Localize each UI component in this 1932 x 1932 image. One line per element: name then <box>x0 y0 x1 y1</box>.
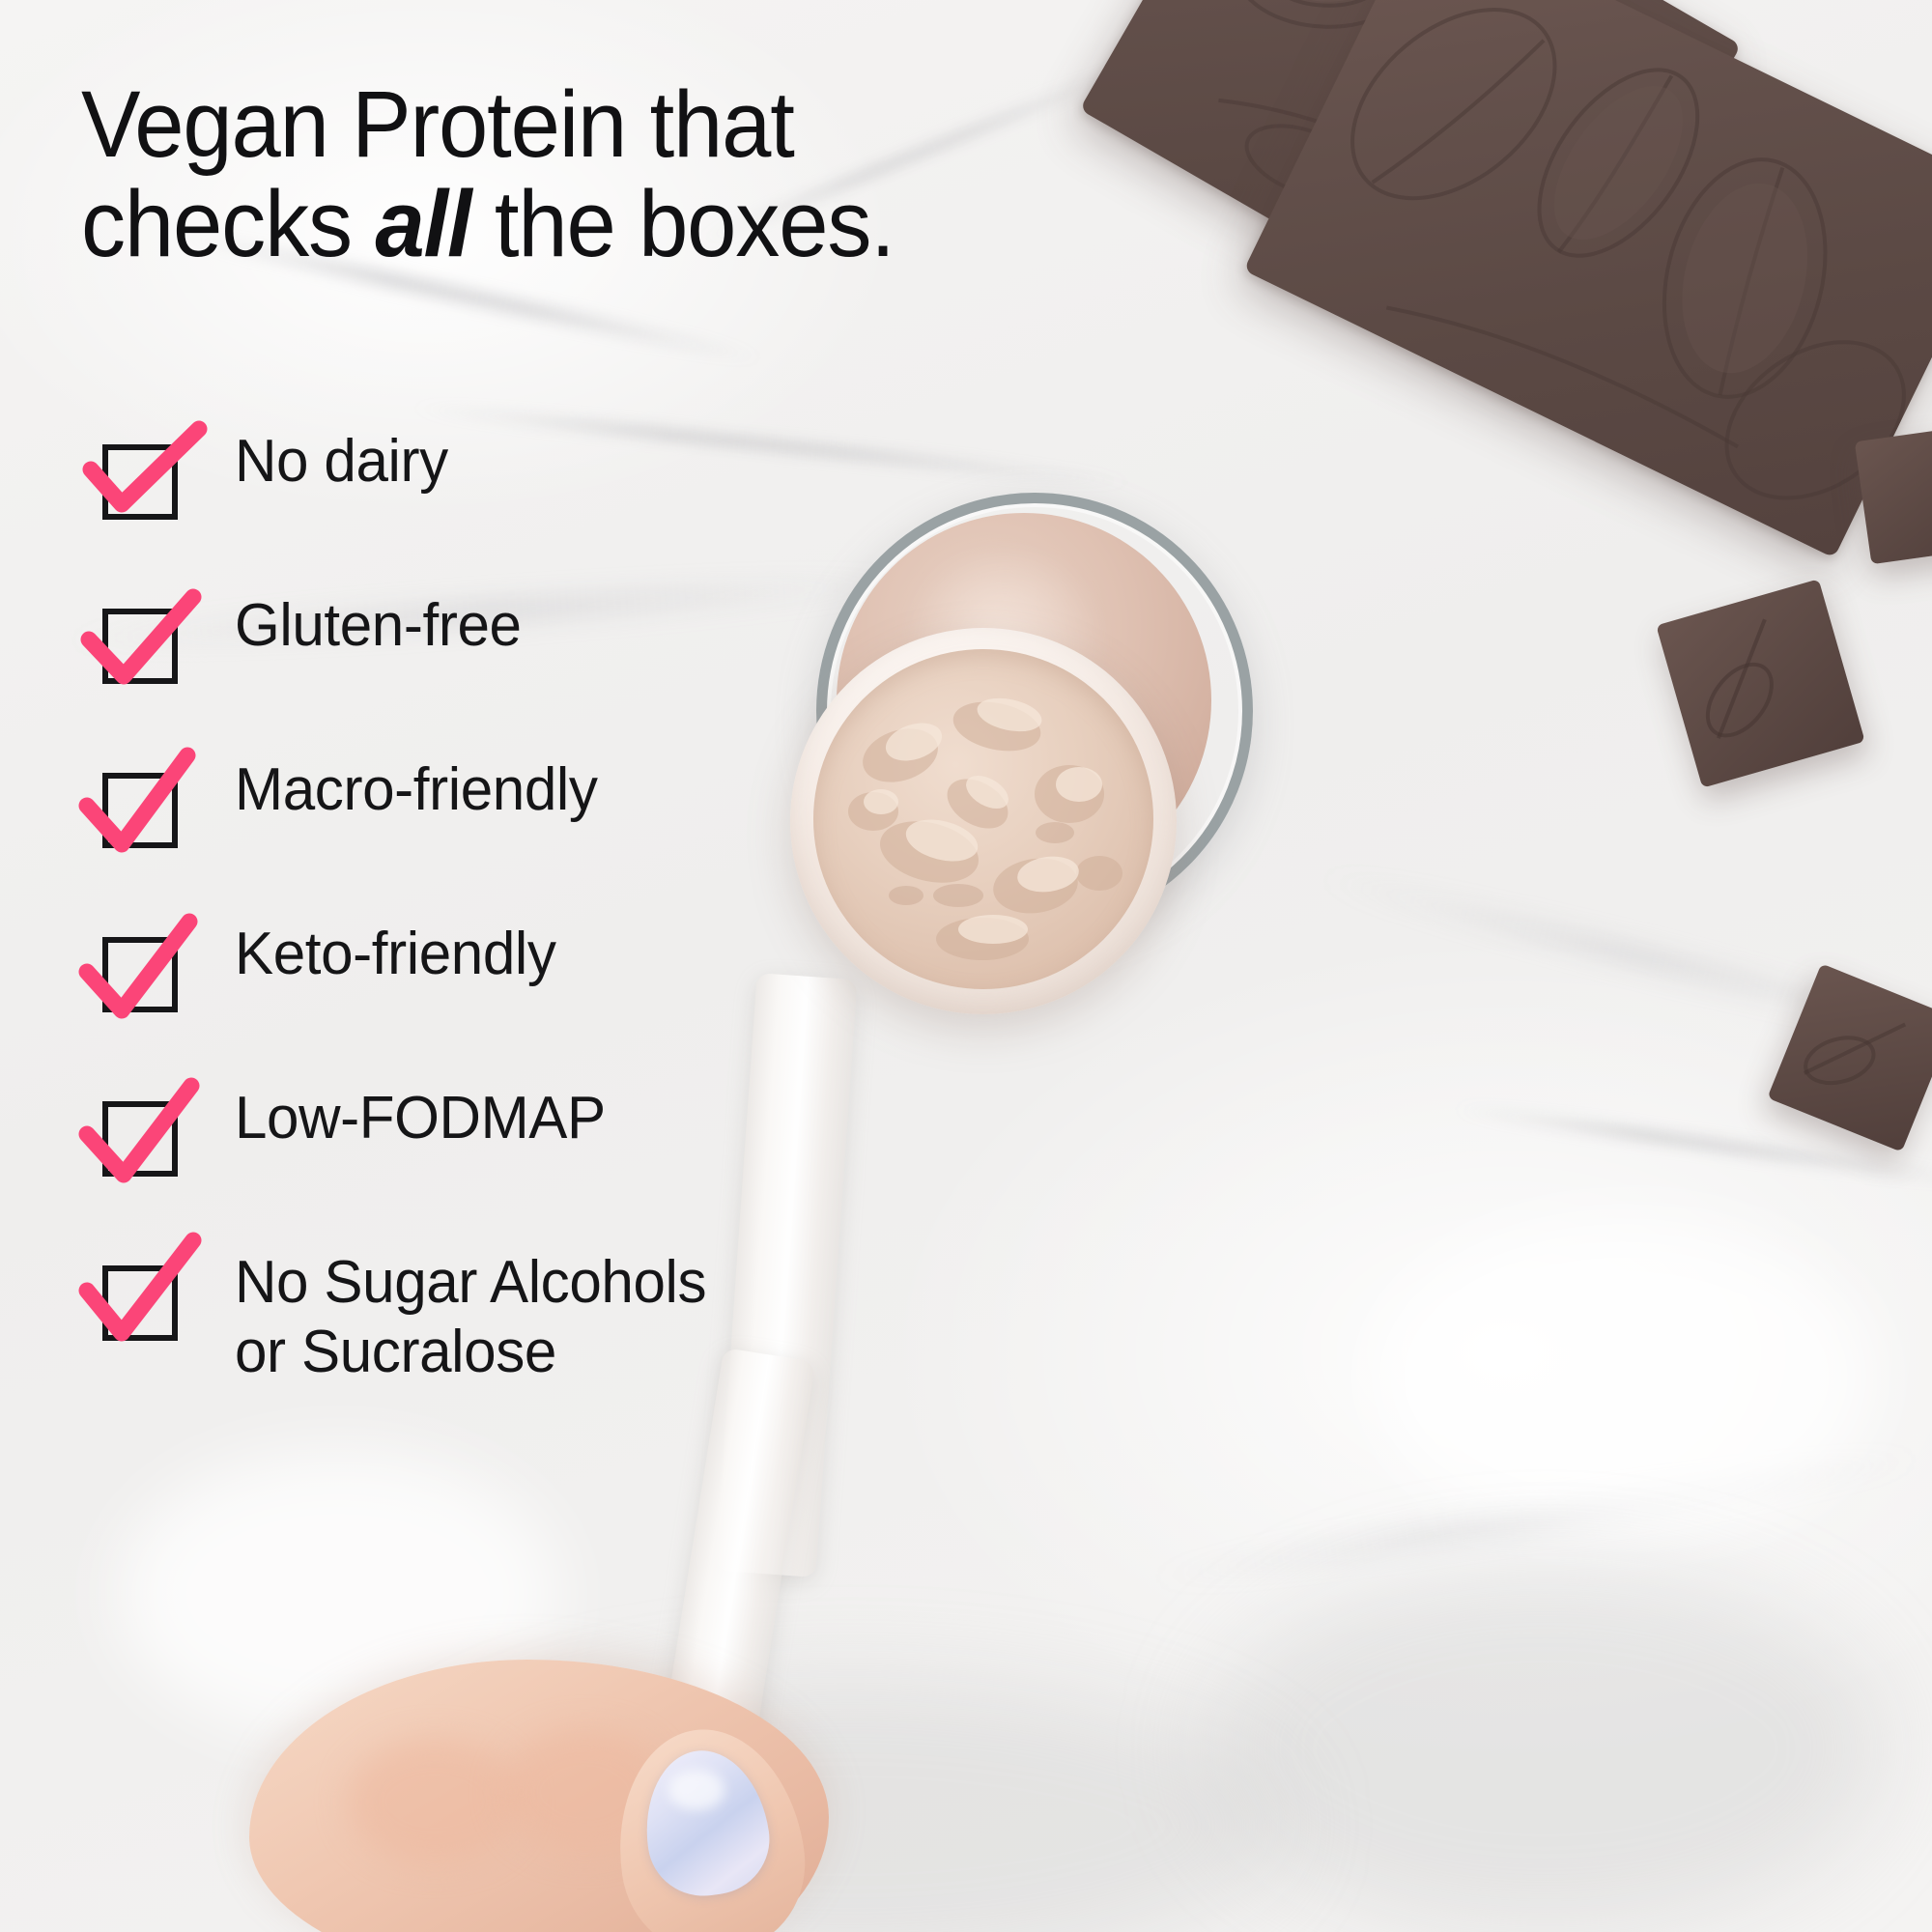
list-item-label-text: Low-FODMAP <box>235 1085 606 1151</box>
list-item[interactable]: Gluten-free <box>85 580 1051 696</box>
marble-shadow <box>1207 1565 1884 1932</box>
list-item[interactable]: Macro-friendly <box>85 744 1051 860</box>
checkmark-icon <box>85 916 235 1024</box>
checkmark-icon <box>85 587 235 696</box>
knuckle-highlight <box>348 1739 522 1864</box>
checkbox-checked-icon[interactable] <box>85 916 235 1024</box>
checkbox-checked-icon[interactable] <box>85 423 235 531</box>
checkbox-checked-icon[interactable] <box>85 587 235 696</box>
headline-line-2-before: checks <box>81 171 375 276</box>
list-item-label: No dairy <box>235 415 448 497</box>
headline-emphasis: all <box>375 171 470 276</box>
list-item-label: Macro-friendly <box>235 744 598 825</box>
list-item-label-text: Keto-friendly <box>235 921 556 987</box>
list-item-label-text: No dairy <box>235 428 448 495</box>
list-item[interactable]: No Sugar Alcohols or Sucralose <box>85 1236 1051 1387</box>
nail-highlight <box>668 1770 724 1810</box>
list-item-label-text: Gluten-free <box>235 592 522 659</box>
benefits-checklist: No dairy Gluten-free Macro-fri <box>85 415 1051 1387</box>
checkmark-icon <box>85 1080 235 1188</box>
checkbox-checked-icon[interactable] <box>85 1244 235 1352</box>
list-item-label: Keto-friendly <box>235 908 556 989</box>
list-item[interactable]: Low-FODMAP <box>85 1072 1051 1188</box>
list-item[interactable]: Keto-friendly <box>85 908 1051 1024</box>
list-item-label-text: No Sugar Alcohols <box>235 1249 706 1316</box>
checkmark-icon <box>85 752 235 860</box>
list-item-label: No Sugar Alcohols or Sucralose <box>235 1236 706 1387</box>
checkmark-icon <box>85 423 235 531</box>
checkbox-checked-icon[interactable] <box>85 752 235 860</box>
headline-line-1: Vegan Protein that <box>81 71 794 177</box>
list-item-label: Low-FODMAP <box>235 1072 606 1153</box>
headline-block: Vegan Protein that checks all the boxes. <box>81 75 1057 274</box>
headline-line-2-after: the boxes. <box>470 171 894 276</box>
page-title: Vegan Protein that checks all the boxes. <box>81 75 1009 274</box>
list-item-label: Gluten-free <box>235 580 522 661</box>
marble-highlight <box>1372 1217 1874 1536</box>
list-item-label-text: Macro-friendly <box>235 756 598 823</box>
checkmark-icon <box>85 1244 235 1352</box>
checkbox-checked-icon[interactable] <box>85 1080 235 1188</box>
list-item[interactable]: No dairy <box>85 415 1051 531</box>
promo-image: Vegan Protein that checks all the boxes.… <box>0 0 1932 1932</box>
list-item-label-text-line2: or Sucralose <box>235 1318 706 1387</box>
